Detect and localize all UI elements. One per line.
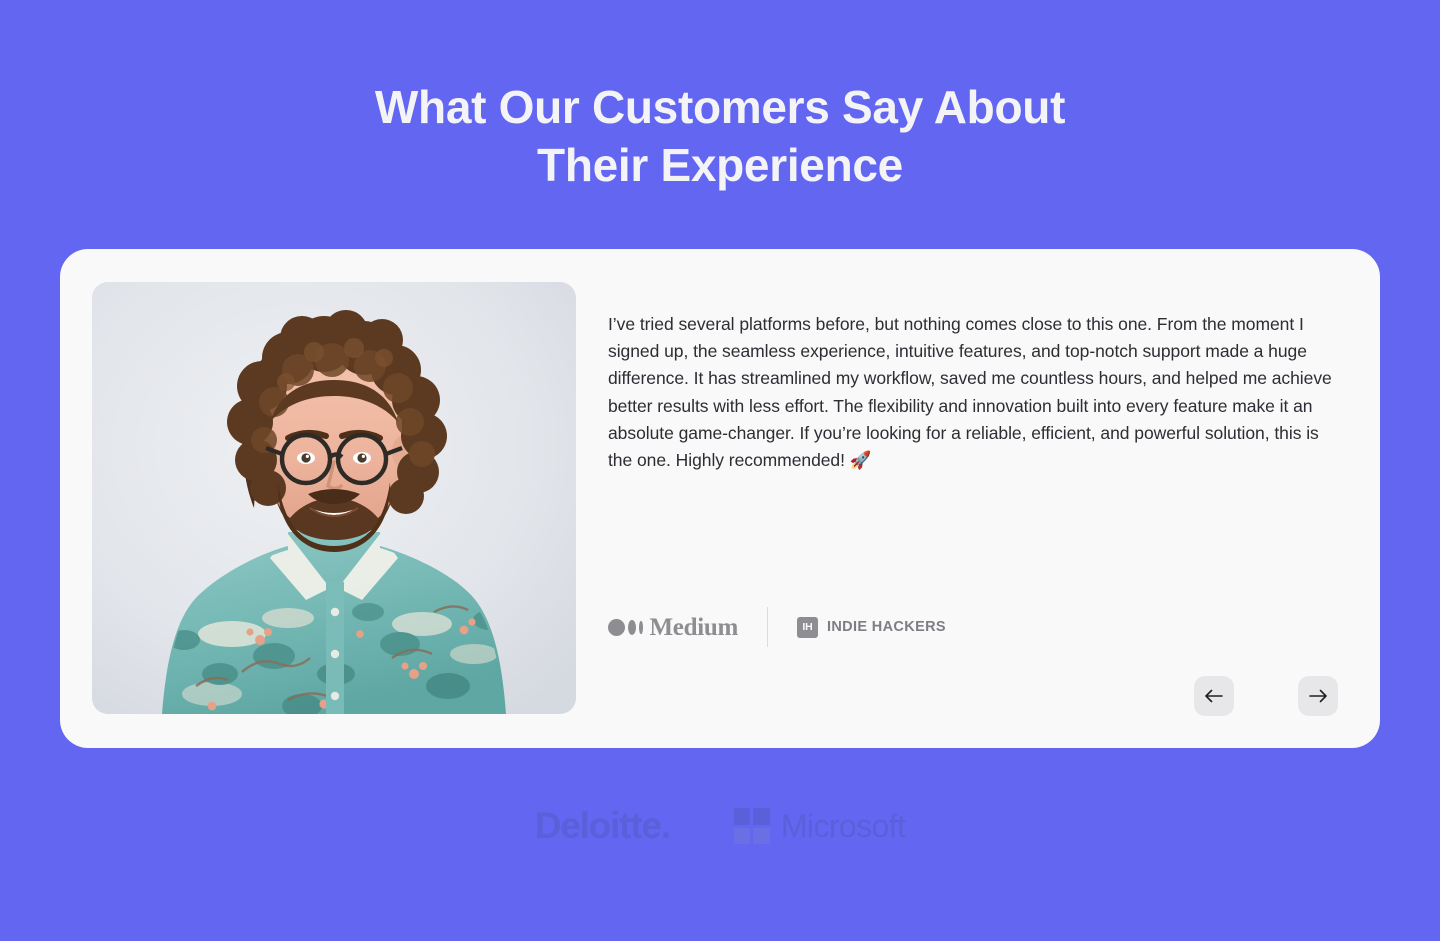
brand-logo-row: Medium IH INDIE HACKERS xyxy=(608,607,946,647)
page-title: What Our Customers Say About Their Exper… xyxy=(0,78,1440,194)
previous-slide-button[interactable] xyxy=(1194,676,1234,716)
microsoft-grid-icon xyxy=(734,808,770,844)
brand-divider xyxy=(767,607,768,647)
indie-hackers-logo: IH INDIE HACKERS xyxy=(797,617,946,638)
page-title-line-2: Their Experience xyxy=(0,136,1440,194)
medium-logo-label: Medium xyxy=(650,615,738,640)
page-title-line-1: What Our Customers Say About xyxy=(375,81,1065,133)
microsoft-logo: Microsoft xyxy=(734,806,905,846)
testimonial-text: I’ve tried several platforms before, but… xyxy=(608,311,1338,474)
next-slide-button[interactable] xyxy=(1298,676,1338,716)
testimonial-card: I’ve tried several platforms before, but… xyxy=(60,249,1380,748)
carousel-nav xyxy=(1194,676,1338,716)
indie-hackers-badge-icon: IH xyxy=(797,617,818,638)
microsoft-logo-label: Microsoft xyxy=(781,806,905,846)
customer-portrait-image xyxy=(92,282,576,714)
deloitte-logo: Deloitte. xyxy=(535,802,670,850)
indie-hackers-logo-label: INDIE HACKERS xyxy=(827,619,946,635)
medium-logo: Medium xyxy=(608,615,738,640)
partner-logo-row: Deloitte. Microsoft xyxy=(0,802,1440,850)
arrow-left-icon xyxy=(1205,689,1223,703)
medium-mark-icon xyxy=(608,619,643,636)
testimonial-section: What Our Customers Say About Their Exper… xyxy=(0,0,1440,941)
arrow-right-icon xyxy=(1309,689,1327,703)
